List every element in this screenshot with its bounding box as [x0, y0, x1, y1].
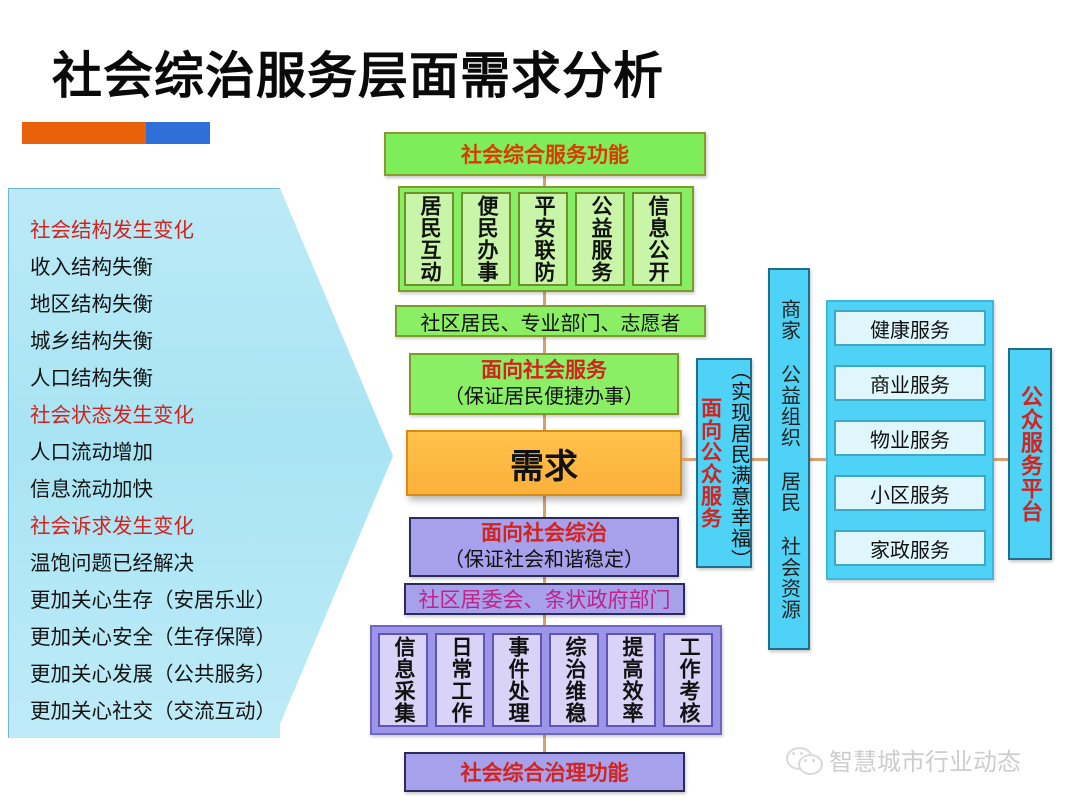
- service-orientation-title: 面向社会服务: [481, 358, 607, 384]
- governance-item-label: 综治维稳: [559, 636, 589, 724]
- service-item-label: 公益服务: [585, 195, 615, 283]
- service-item-2: 平安联防: [518, 192, 568, 286]
- governance-item-5: 工作考核: [663, 633, 713, 727]
- service-actors-label: 社区居民、专业部门、志愿者: [421, 307, 681, 336]
- accent-bar-orange: [22, 122, 146, 144]
- governance-item-0: 信息采集: [378, 633, 428, 727]
- list-item: 更加关心发展（公共服务）: [30, 656, 330, 693]
- service-function-header-label: 社会综合服务功能: [461, 139, 629, 169]
- service-item-3: 公益服务: [575, 192, 625, 286]
- governance-item-2: 事件处理: [492, 633, 542, 727]
- governance-item-3: 综治维稳: [549, 633, 599, 727]
- governance-orientation-title: 面向社会综治: [481, 521, 607, 547]
- governance-item-1: 日常工作: [435, 633, 485, 727]
- service-item-label: 便民办事: [471, 195, 501, 283]
- needs-drivers-list: 社会结构发生变化 收入结构失衡 地区结构失衡 城乡结构失衡 人口结构失衡 社会状…: [30, 212, 330, 730]
- service-item-0: 居民互动: [404, 192, 454, 286]
- service-item-label: 平安联防: [528, 195, 558, 283]
- governance-item-label: 事件处理: [502, 636, 532, 724]
- list-item: 收入结构失衡: [30, 249, 330, 286]
- diagram-canvas: 社会综治服务层面需求分析 社会结构发生变化 收入结构失衡 地区结构失衡 城乡结构…: [0, 0, 1080, 810]
- service-item-1: 便民办事: [461, 192, 511, 286]
- service-item-4: 信息公开: [632, 192, 682, 286]
- governance-item-label: 提高效率: [616, 636, 646, 724]
- list-item: 更加关心生存（安居乐业）: [30, 582, 330, 619]
- governance-item-label: 日常工作: [445, 636, 475, 724]
- service-list-item-0: 健康服务: [834, 310, 986, 346]
- watermark: 智慧城市行业动态: [786, 742, 1021, 777]
- service-list-label: 商业服务: [870, 369, 950, 398]
- service-list-item-3: 小区服务: [834, 475, 986, 511]
- service-list-label: 物业服务: [870, 424, 950, 453]
- list-item: 人口结构失衡: [30, 360, 330, 397]
- service-item-label: 信息公开: [642, 195, 672, 283]
- public-service-platform: 公众服务平台: [1008, 348, 1052, 560]
- list-item: 更加关心社交（交流互动）: [30, 693, 330, 730]
- public-service-platform-label: 公众服务平台: [1014, 385, 1046, 523]
- social-resources-column: 商家 公益组织 居民 社会资源: [768, 268, 810, 650]
- governance-orientation-sub: （保证社会和谐稳定）: [444, 548, 644, 573]
- governance-actors: 社区居委会、条状政府部门: [404, 583, 685, 615]
- list-item: 地区结构失衡: [30, 286, 330, 323]
- core-demand-box: 需求: [406, 430, 682, 496]
- governance-function-header: 社会综合治理功能: [404, 752, 685, 792]
- service-orientation: 面向社会服务 （保证居民便捷办事）: [409, 353, 679, 415]
- social-resources-label: 商家 公益组织 居民 社会资源: [775, 299, 804, 620]
- service-actors: 社区居民、专业部门、志愿者: [395, 305, 706, 337]
- watermark-text: 智慧城市行业动态: [829, 742, 1021, 777]
- service-item-label: 居民互动: [414, 195, 444, 283]
- service-orientation-sub: （保证居民便捷办事）: [444, 385, 644, 410]
- service-list-label: 健康服务: [870, 314, 950, 343]
- service-list-label: 小区服务: [870, 479, 950, 508]
- governance-function-header-label: 社会综合治理功能: [461, 757, 629, 787]
- governance-item-label: 工作考核: [673, 636, 703, 724]
- public-service-orientation-title: 面向公众服务: [695, 397, 725, 529]
- list-item: 信息流动加快: [30, 471, 330, 508]
- governance-item-label: 信息采集: [388, 636, 418, 724]
- governance-item-4: 提高效率: [606, 633, 656, 727]
- accent-bar-blue: [146, 122, 210, 144]
- page-title: 社会综治服务层面需求分析: [52, 36, 664, 108]
- accent-bar: [22, 122, 210, 144]
- public-service-orientation: 面向公众服务 （实现居民满意幸福）: [696, 358, 752, 568]
- service-list-item-4: 家政服务: [834, 530, 986, 566]
- list-item: 社会诉求发生变化: [30, 508, 330, 545]
- list-item: 人口流动增加: [30, 434, 330, 471]
- wechat-icon: [786, 747, 820, 773]
- service-list-label: 家政服务: [870, 534, 950, 563]
- list-item: 城乡结构失衡: [30, 323, 330, 360]
- list-item: 更加关心安全（生存保障）: [30, 619, 330, 656]
- public-service-orientation-sub: （实现居民满意幸福）: [725, 360, 754, 566]
- service-function-header: 社会综合服务功能: [384, 132, 706, 176]
- core-demand-label: 需求: [510, 439, 578, 488]
- governance-orientation: 面向社会综治 （保证社会和谐稳定）: [409, 517, 679, 577]
- list-item: 温饱问题已经解决: [30, 545, 330, 582]
- list-item: 社会结构发生变化: [30, 212, 330, 249]
- governance-actors-label: 社区居委会、条状政府部门: [419, 584, 671, 614]
- service-list-item-2: 物业服务: [834, 420, 986, 456]
- service-list-item-1: 商业服务: [834, 365, 986, 401]
- list-item: 社会状态发生变化: [30, 397, 330, 434]
